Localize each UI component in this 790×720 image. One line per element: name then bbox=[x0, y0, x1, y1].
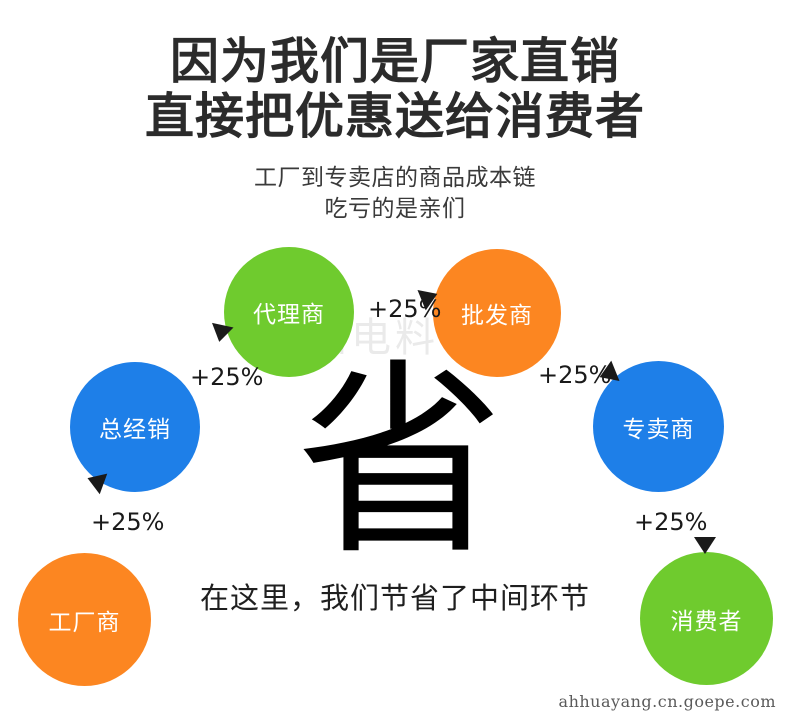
subtitle-line-1: 工厂到专卖店的商品成本链 bbox=[254, 165, 536, 191]
headline-line-1: 因为我们是厂家直销 bbox=[170, 33, 620, 90]
arrow-down-consumer-icon bbox=[694, 537, 716, 554]
node-consumer: 消费者 bbox=[640, 552, 773, 685]
bottom-caption: 在这里，我们节省了中间环节 bbox=[0, 580, 790, 616]
arrow-down-icon bbox=[208, 323, 233, 344]
footer-site-url: ahhuayang.cn.goepe.com bbox=[559, 692, 776, 712]
node-general-label: 总经销 bbox=[99, 410, 171, 444]
markup-dealer-to-consumer: +25% bbox=[634, 510, 707, 534]
page-subtitle: 工厂到专卖店的商品成本链 吃亏的是亲们 bbox=[0, 163, 790, 225]
headline-line-2: 直接把优惠送给消费者 bbox=[0, 89, 790, 144]
page-title: 因为我们是厂家直销 直接把优惠送给消费者 bbox=[0, 34, 790, 144]
markup-general-to-factory: +25% bbox=[91, 510, 164, 534]
markup-agent-to-general: +25% bbox=[190, 365, 263, 389]
node-factory: 工厂商 bbox=[18, 553, 151, 686]
node-dealer-label: 专卖商 bbox=[623, 410, 695, 444]
center-save-glyph: 省 bbox=[295, 358, 505, 568]
node-agent-label: 代理商 bbox=[253, 295, 325, 329]
node-wholesale-label: 批发商 bbox=[461, 296, 533, 330]
subtitle-line-2: 吃亏的是亲们 bbox=[0, 194, 790, 225]
promo-poster: 因为我们是厂家直销 直接把优惠送给消费者 工厂到专卖店的商品成本链 吃亏的是亲们… bbox=[0, 0, 790, 720]
